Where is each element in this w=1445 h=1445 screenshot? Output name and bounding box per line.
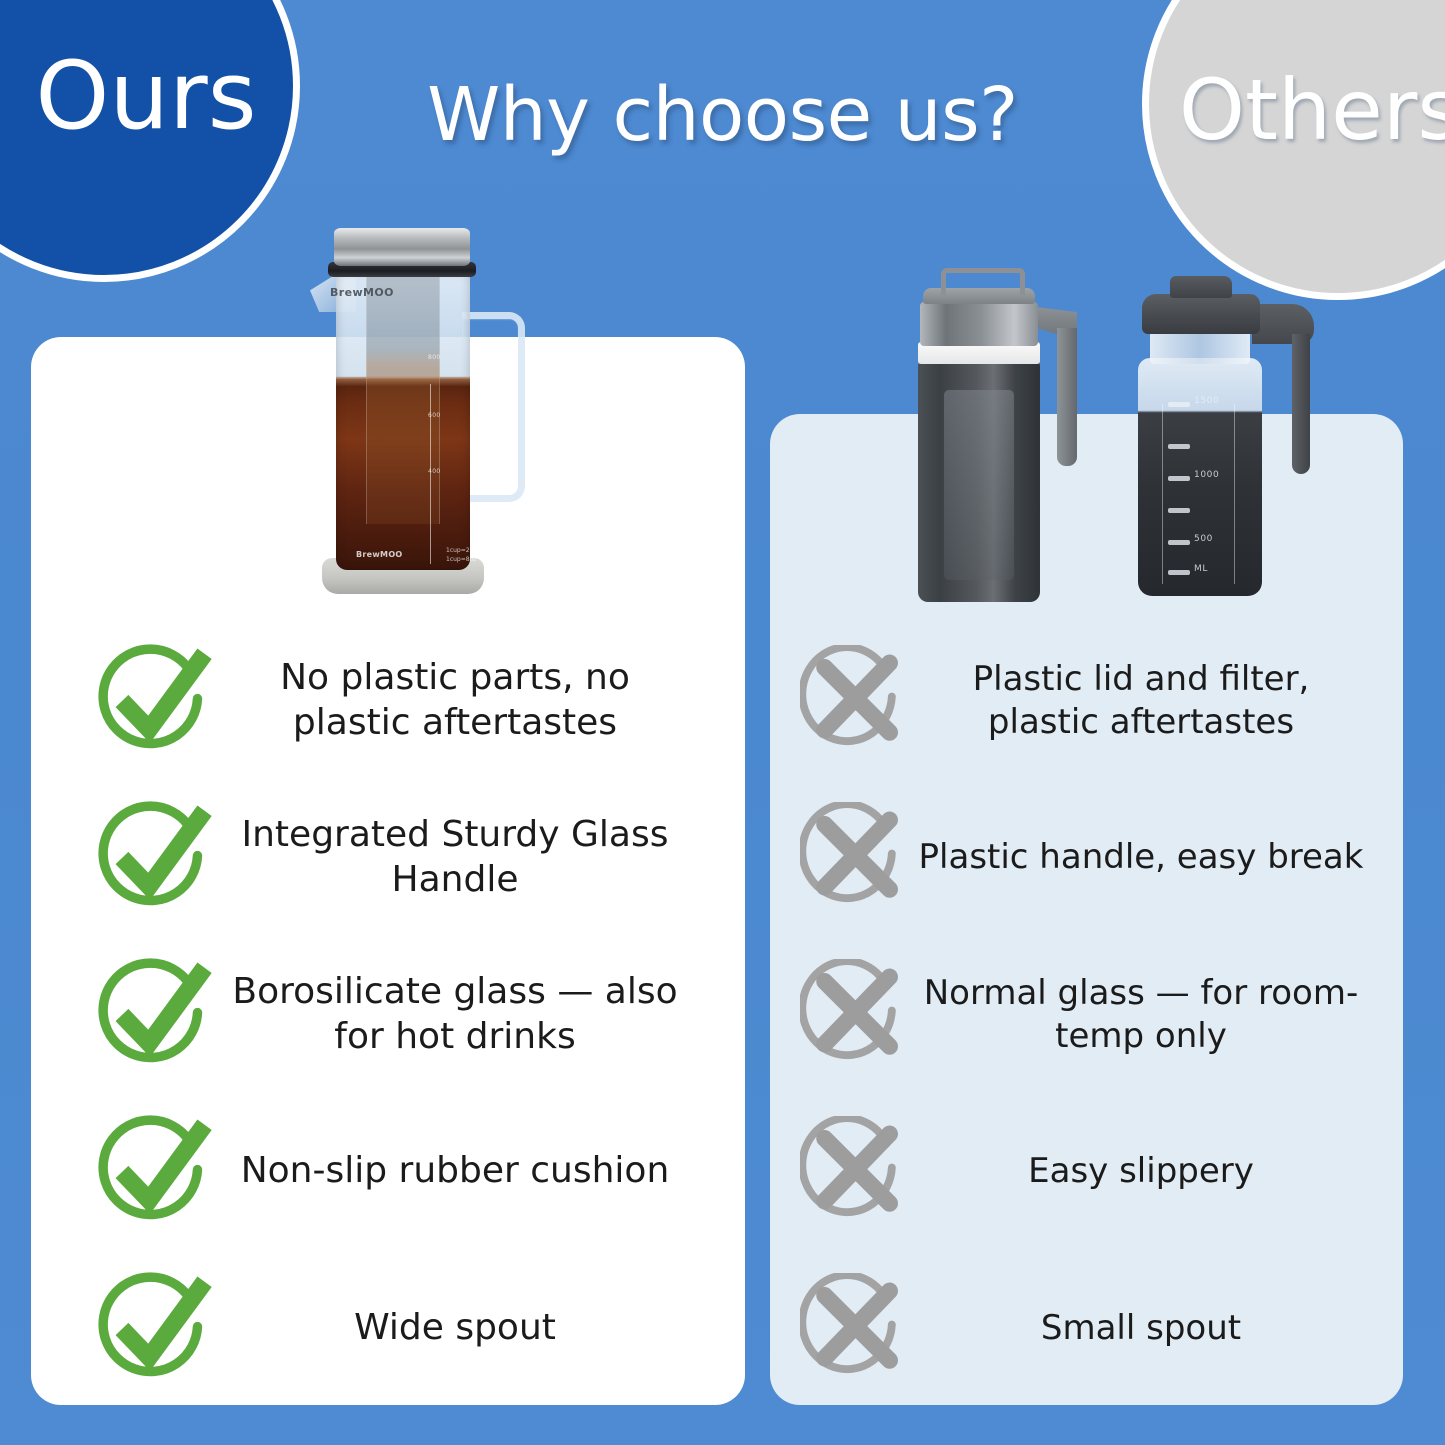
competitor-product-image-1: [903, 268, 1078, 610]
jar-neck-2: [1150, 330, 1250, 364]
feature-label: Non-slip rubber cushion: [214, 1149, 696, 1194]
check-circle-icon: [96, 956, 214, 1074]
list-item: Integrated Sturdy Glass Handle: [96, 779, 696, 936]
others-badge-label: Others: [1179, 61, 1445, 159]
brand-label-top: BrewMOO: [330, 286, 394, 299]
others-badge: Others: [1142, 0, 1445, 300]
list-item: No plastic parts, no plastic aftertastes: [96, 622, 696, 779]
lid-knob-2: [1170, 276, 1232, 298]
ours-feature-list: No plastic parts, no plastic aftertastes…: [96, 622, 696, 1407]
scale-label-500: 500: [1194, 534, 1213, 544]
scale-label-1000: 1000: [1194, 470, 1219, 480]
ours-badge: Ours: [0, 0, 300, 282]
glass-handle: [462, 312, 525, 502]
cross-circle-icon: [800, 959, 912, 1071]
others-feature-list: Plastic lid and filter, plastic aftertas…: [800, 622, 1370, 1407]
cross-circle-icon: [800, 1273, 912, 1385]
list-item: Non-slip rubber cushion: [96, 1093, 696, 1250]
ours-product-image: 800 600 400 BrewMOO BrewMOO 1cup=200ml 1…: [296, 228, 544, 598]
coffee-foam-line: [336, 377, 470, 386]
feature-label: Normal glass — for room-temp only: [912, 972, 1370, 1056]
steel-filter: [366, 272, 440, 524]
scale-tick-600: 600: [428, 412, 450, 419]
glass-body-2: 1500 1000 500 ML: [1138, 358, 1262, 596]
ours-badge-label: Ours: [35, 42, 256, 151]
check-circle-icon: [96, 1113, 214, 1231]
cross-circle-icon: [800, 1116, 912, 1228]
cross-circle-icon: [800, 802, 912, 914]
feature-label: Plastic handle, easy break: [912, 836, 1370, 878]
plastic-body-1: [918, 362, 1040, 602]
feature-label: Small spout: [912, 1307, 1370, 1349]
check-circle-icon: [96, 799, 214, 917]
feature-label: No plastic parts, no plastic aftertastes: [214, 656, 696, 745]
comparison-infographic: Why choose us? Ours Others 800 600 400 B…: [0, 0, 1445, 1445]
scale-label-1500: 1500: [1194, 396, 1219, 406]
scale-tick-800: 800: [428, 354, 450, 361]
lid-bail-1: [941, 268, 1025, 295]
list-item: Wide spout: [96, 1250, 696, 1407]
glass-body: 800 600 400: [336, 272, 470, 570]
list-item: Plastic lid and filter, plastic aftertas…: [800, 622, 1370, 779]
steel-lid: [334, 228, 470, 266]
check-circle-icon: [96, 642, 214, 760]
cup-line-1: 1cup=200ml: [446, 546, 485, 555]
cross-circle-icon: [800, 645, 912, 757]
list-item: Plastic handle, easy break: [800, 779, 1370, 936]
list-item: Small spout: [800, 1250, 1370, 1407]
feature-label: Plastic lid and filter, plastic aftertas…: [912, 658, 1370, 742]
cup-line-2: 1cup=8oz: [446, 555, 485, 564]
feature-label: Easy slippery: [912, 1150, 1370, 1192]
competitor-product-image-2: 1500 1000 500 ML: [1124, 276, 1320, 606]
feature-label: Wide spout: [214, 1306, 696, 1351]
steel-band-1: [920, 302, 1038, 346]
feature-label: Integrated Sturdy Glass Handle: [214, 813, 696, 902]
scale-tick-400: 400: [428, 468, 450, 475]
list-item: Normal glass — for room-temp only: [800, 936, 1370, 1093]
cup-conversion-labels: 1cup=200ml 1cup=8oz: [446, 546, 485, 564]
feature-label: Borosilicate glass — also for hot drinks: [214, 970, 696, 1059]
check-circle-icon: [96, 1270, 214, 1388]
plastic-lid-2: [1142, 294, 1260, 334]
plastic-filter-1: [944, 390, 1014, 580]
list-item: Easy slippery: [800, 1093, 1370, 1250]
list-item: Borosilicate glass — also for hot drinks: [96, 936, 696, 1093]
brand-label-bottom: BrewMOO: [356, 550, 403, 559]
scale-label-ml: ML: [1194, 564, 1208, 574]
